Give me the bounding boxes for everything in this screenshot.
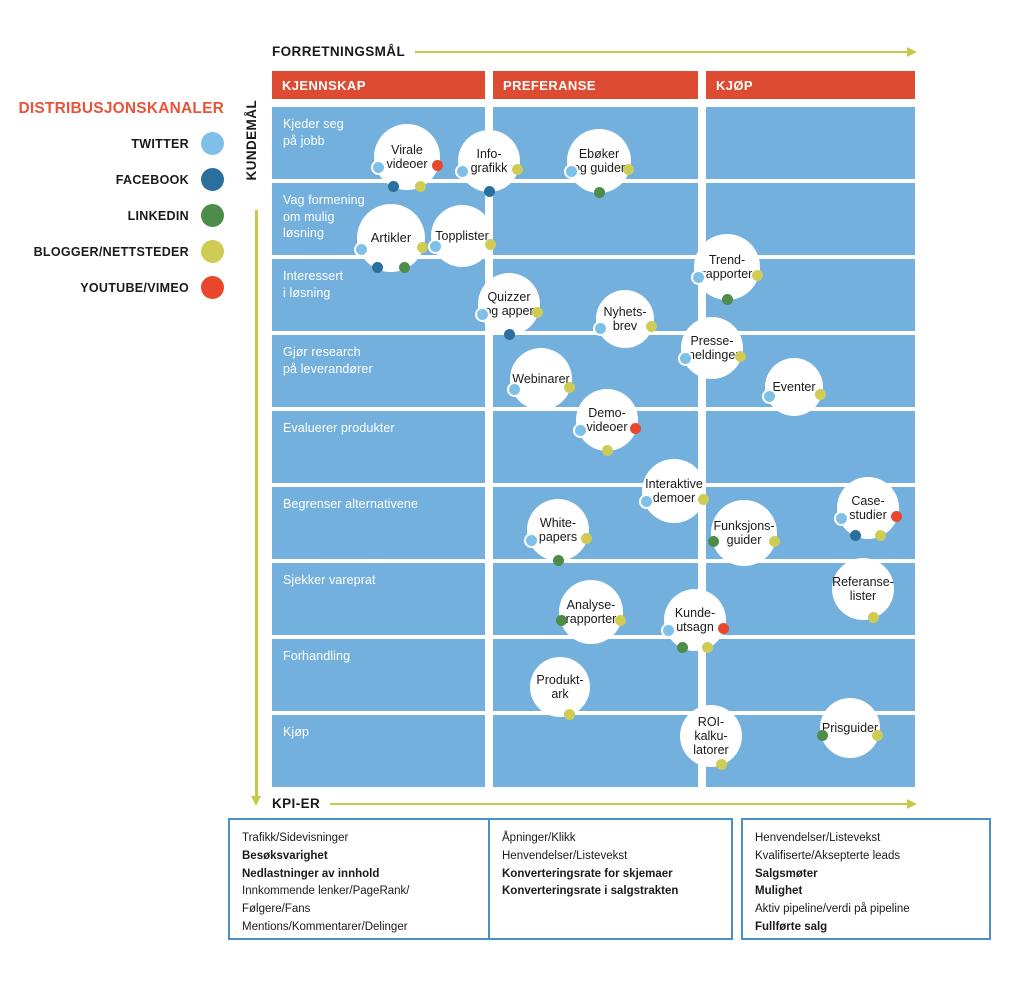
legend-item: YOUTUBE/VIMEO <box>0 276 230 299</box>
legend-item: BLOGGER/NETTSTEDER <box>0 240 230 263</box>
kpi-line: Innkommende lenker/PageRank/ <box>242 883 476 901</box>
matrix-row-label: Sjekker vareprat <box>283 572 463 589</box>
matrix-cell[interactable] <box>493 715 698 787</box>
kpi-line: Henvendelser/Listevekst <box>502 848 719 866</box>
matrix-column-header: KJENNSKAP <box>272 71 485 99</box>
legend: DISTRIBUSJONSKANALER TWITTERFACEBOOKLINK… <box>0 100 230 312</box>
kpi-line: Nedlastninger av innhold <box>242 866 476 884</box>
content-bubble[interactable]: Presse-meldinger <box>681 317 743 379</box>
content-bubble-label: Info-grafikk <box>468 147 511 175</box>
content-bubble[interactable]: Ebøkerog guider <box>567 129 631 193</box>
channel-dot-twitter <box>834 511 849 526</box>
channel-dot-blogger <box>602 445 613 456</box>
customer-goal-axis: KUNDEMÅL <box>243 100 269 806</box>
content-bubble[interactable]: Nyhets-brev <box>596 290 654 348</box>
content-bubble-label: ROI-kalku-latorer <box>680 715 742 757</box>
matrix-row-label: Forhandling <box>283 648 463 665</box>
content-bubble[interactable]: Quizzerog apper <box>478 273 540 335</box>
kpi-box: Henvendelser/ListevekstKvalifiserte/Akse… <box>741 818 991 940</box>
legend-item-label: BLOGGER/NETTSTEDER <box>34 245 189 259</box>
channel-dot-twitter <box>564 164 579 179</box>
content-bubble[interactable]: Case-studier <box>837 477 899 539</box>
content-bubble[interactable]: Produkt-ark <box>530 657 590 717</box>
content-bubble[interactable]: Topplister <box>431 205 493 267</box>
content-bubble-label: Nyhets-brev <box>600 305 649 333</box>
channel-dot-linkedin <box>594 187 605 198</box>
kpi-line: Aktiv pipeline/verdi på pipeline <box>755 901 977 919</box>
matrix-cell[interactable] <box>493 639 698 711</box>
channel-dot-facebook <box>484 186 495 197</box>
matrix-cell[interactable] <box>706 411 915 483</box>
kpi-line: Besøksvarighet <box>242 848 476 866</box>
content-bubble-label: Funksjons-guider <box>710 519 777 547</box>
legend-color-swatch <box>201 276 224 299</box>
kpi-line: Henvendelser/Listevekst <box>755 830 977 848</box>
matrix-row: Begrenser alternativene <box>272 487 915 559</box>
channel-dot-twitter <box>475 307 490 322</box>
content-bubble[interactable]: Artikler <box>357 204 425 272</box>
legend-item-label: TWITTER <box>131 137 189 151</box>
matrix-row-label: Gjør researchpå leverandører <box>283 344 463 377</box>
matrix-column-header-label: PREFERANSE <box>503 78 596 93</box>
channel-dot-twitter <box>573 423 588 438</box>
kpi-line: Trafikk/Sidevisninger <box>242 830 476 848</box>
channel-dot-blogger <box>868 612 879 623</box>
channel-dot-twitter <box>661 623 676 638</box>
content-bubble[interactable]: Webinarer <box>510 348 572 410</box>
kpi-box: Åpninger/KlikkHenvendelser/ListevekstKon… <box>488 818 733 940</box>
channel-dot-blogger <box>875 530 886 541</box>
channel-dot-twitter <box>507 382 522 397</box>
matrix-column-header-label: KJENNSKAP <box>282 78 366 93</box>
channel-dot-twitter <box>455 164 470 179</box>
content-bubble-label: White-papers <box>536 516 580 544</box>
matrix-row-label: Evaluerer produkter <box>283 420 463 437</box>
matrix-row: Forhandling <box>272 639 915 711</box>
matrix-column-header: PREFERANSE <box>493 71 698 99</box>
content-bubble[interactable]: Demo-videoer <box>576 389 638 451</box>
channel-dot-facebook <box>850 530 861 541</box>
content-bubble-label: Viralevideoer <box>384 143 431 171</box>
channel-dot-twitter <box>354 242 369 257</box>
legend-color-swatch <box>201 204 224 227</box>
matrix-column-header-label: KJØP <box>716 78 753 93</box>
content-bubble[interactable]: ROI-kalku-latorer <box>680 705 742 767</box>
kpi-line: Salgsmøter <box>755 866 977 884</box>
business-goal-axis-label: FORRETNINGSMÅL <box>272 44 405 59</box>
content-bubble[interactable]: Analyse-rapporter <box>559 580 623 644</box>
content-bubble-label: Analyse-rapporter <box>563 598 620 626</box>
content-bubble-label: Case-studier <box>846 494 890 522</box>
channel-dot-twitter <box>524 533 539 548</box>
content-bubble-label: Eventer <box>769 380 818 394</box>
content-bubble[interactable]: Funksjons-guider <box>711 500 777 566</box>
content-bubble-label: Kunde-utsagn <box>672 606 718 634</box>
content-bubble-label: Referanse-lister <box>829 575 897 603</box>
legend-color-swatch <box>201 240 224 263</box>
channel-dot-twitter <box>762 389 777 404</box>
content-bubble[interactable]: Prisguider <box>820 698 880 758</box>
matrix-row-label: Kjøp <box>283 724 463 741</box>
kpi-line: Mentions/Kommentarer/Delinger <box>242 919 476 937</box>
legend-item: TWITTER <box>0 132 230 155</box>
channel-dot-linkedin <box>708 536 719 547</box>
legend-items: TWITTERFACEBOOKLINKEDINBLOGGER/NETTSTEDE… <box>0 132 230 299</box>
content-bubble[interactable]: Kunde-utsagn <box>664 589 726 651</box>
matrix-row: Interesserti løsning <box>272 259 915 331</box>
legend-item-label: FACEBOOK <box>116 173 189 187</box>
kpi-box: Trafikk/SidevisningerBesøksvarighetNedla… <box>228 818 490 940</box>
content-bubble-label: Demo-videoer <box>584 406 631 434</box>
content-matrix: KJENNSKAPPREFERANSEKJØPKjeder segpå jobb… <box>272 71 915 805</box>
legend-color-swatch <box>201 132 224 155</box>
matrix-row-label: Interesserti løsning <box>283 268 463 301</box>
customer-goal-arrow-icon <box>251 210 261 806</box>
channel-dot-twitter <box>428 239 443 254</box>
kpi-line: Mulighet <box>755 883 977 901</box>
content-bubble[interactable]: Trend-rapporter <box>694 234 760 300</box>
matrix-row-label: Begrenser alternativene <box>283 496 463 513</box>
channel-dot-blogger <box>415 181 426 192</box>
content-bubble[interactable]: Viralevideoer <box>374 124 440 190</box>
channel-dot-twitter <box>371 160 386 175</box>
channel-dot-blogger <box>716 759 727 770</box>
kpi-line: Åpninger/Klikk <box>502 830 719 848</box>
kpi-line: Kvalifiserte/Aksepterte leads <box>755 848 977 866</box>
legend-title: DISTRIBUSJONSKANALER <box>0 100 230 118</box>
channel-dot-linkedin <box>722 294 733 305</box>
content-bubble-label: Produkt-ark <box>533 673 586 701</box>
channel-dot-twitter <box>593 321 608 336</box>
channel-dot-linkedin <box>677 642 688 653</box>
kpi-line: Konverteringsrate i salgstrakten <box>502 883 719 901</box>
channel-dot-linkedin <box>553 555 564 566</box>
channel-dot-blogger <box>702 642 713 653</box>
content-bubble[interactable]: Eventer <box>765 358 823 416</box>
matrix-cell[interactable] <box>706 639 915 711</box>
legend-item: FACEBOOK <box>0 168 230 191</box>
business-goal-arrow-icon <box>415 47 917 57</box>
legend-color-swatch <box>201 168 224 191</box>
content-bubble-label: Trend-rapporter <box>699 253 756 281</box>
content-bubble[interactable]: White-papers <box>527 499 589 561</box>
business-goal-axis: FORRETNINGSMÅL <box>272 44 917 59</box>
legend-item-label: LINKEDIN <box>128 209 189 223</box>
legend-item: LINKEDIN <box>0 204 230 227</box>
matrix-column-header: KJØP <box>706 71 915 99</box>
channel-dot-linkedin <box>556 615 567 626</box>
kpi-line: Konverteringsrate for skjemaer <box>502 866 719 884</box>
channel-dot-blogger <box>417 242 428 253</box>
customer-goal-axis-label: KUNDEMÅL <box>244 100 259 180</box>
channel-dot-facebook <box>504 329 515 340</box>
channel-dot-twitter <box>678 351 693 366</box>
content-bubble[interactable]: Interaktivedemoer <box>642 459 706 523</box>
channel-dot-twitter <box>691 270 706 285</box>
kpi-line: Følgere/Fans <box>242 901 476 919</box>
channel-dot-facebook <box>388 181 399 192</box>
kpi-line: Fullførte salg <box>755 919 977 937</box>
legend-item-label: YOUTUBE/VIMEO <box>80 281 189 295</box>
channel-dot-twitter <box>639 494 654 509</box>
matrix-cell[interactable] <box>706 107 915 179</box>
content-bubble[interactable]: Referanse-lister <box>832 558 894 620</box>
content-bubble[interactable]: Info-grafikk <box>458 130 520 192</box>
content-bubble-label: Artikler <box>368 231 414 246</box>
